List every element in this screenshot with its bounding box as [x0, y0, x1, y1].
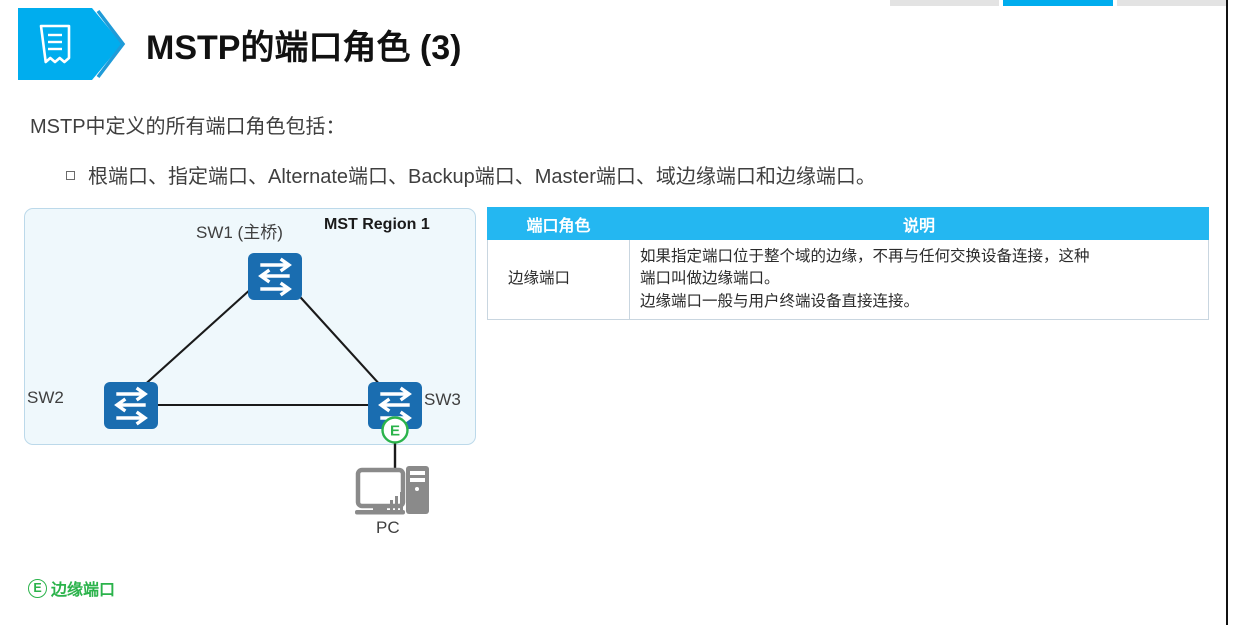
bullet-item-label: 根端口、指定端口、Alternate端口、Backup端口、Master端口、域…	[88, 160, 876, 189]
intro-text: MSTP中定义的所有端口角色包括：	[30, 110, 346, 139]
switch-icon-sw1[interactable]	[248, 253, 302, 300]
bullet-list-item: 根端口、指定端口、Alternate端口、Backup端口、Master端口、域…	[66, 160, 876, 189]
description-line-1: 如果指定端口位于整个域的边缘，不再与任何交换设备连接，这种	[640, 246, 1198, 268]
switch-icon-sw2[interactable]	[104, 382, 158, 429]
port-role-table: 端口角色 说明 边缘端口 如果指定端口位于整个域的边缘，不再与任何交换设备连接，…	[487, 207, 1209, 320]
table-body: 边缘端口 如果指定端口位于整个域的边缘，不再与任何交换设备连接，这种 端口叫做边…	[488, 240, 1209, 320]
cell-port-role: 边缘端口	[488, 240, 630, 320]
network-topology-diagram: E MST Region 1 SW1 (主桥) SW2 SW3 PC	[24, 208, 476, 538]
table-header: 端口角色 说明	[488, 208, 1209, 240]
cell-description: 如果指定端口位于整个域的边缘，不再与任何交换设备连接，这种 端口叫做边缘端口。 …	[630, 240, 1209, 320]
node-label-pc: PC	[376, 518, 400, 538]
header-chevron-icon	[96, 8, 126, 80]
node-label-sw2: SW2	[27, 388, 64, 408]
pc-icon[interactable]	[355, 466, 429, 515]
slide-header: MSTP的端口角色 (3)	[18, 8, 461, 80]
edge-port-badge-icon: E	[383, 418, 408, 443]
legend-label: 边缘端口	[51, 576, 115, 600]
table-row: 边缘端口 如果指定端口位于整个域的边缘，不再与任何交换设备连接，这种 端口叫做边…	[488, 240, 1209, 320]
mst-region-label: MST Region 1	[324, 216, 430, 234]
document-icon	[38, 23, 72, 65]
svg-text:E: E	[390, 423, 400, 440]
column-header-role: 端口角色	[488, 208, 630, 240]
legend-edge-port-icon: E	[28, 579, 47, 598]
description-line-3: 边缘端口一般与用户终端设备直接连接。	[640, 291, 1198, 313]
browser-tab-3[interactable]	[1117, 0, 1226, 6]
bullet-marker-icon	[66, 171, 75, 180]
node-label-sw3: SW3	[424, 390, 461, 410]
browser-tab-strip	[890, 0, 1226, 6]
legend: E 边缘端口	[28, 576, 115, 600]
node-label-sw1: SW1 (主桥)	[196, 218, 283, 243]
description-line-2: 端口叫做边缘端口。	[640, 268, 1198, 290]
browser-tab-2-active[interactable]	[1003, 0, 1112, 6]
page-title: MSTP的端口角色 (3)	[146, 20, 461, 69]
right-edge-divider	[1226, 0, 1228, 625]
header-badge	[18, 8, 122, 80]
table-header-row: 端口角色 说明	[488, 208, 1209, 240]
link-sw1-sw2	[130, 288, 252, 398]
column-header-description: 说明	[630, 208, 1209, 240]
link-sw1-sw3	[292, 288, 392, 398]
browser-tab-1[interactable]	[890, 0, 999, 6]
topology-canvas: E	[24, 208, 476, 538]
